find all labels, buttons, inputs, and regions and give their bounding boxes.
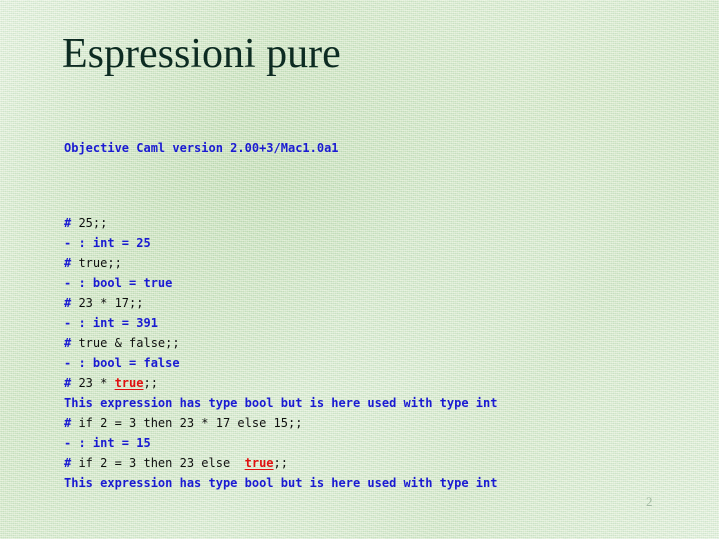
terminal-line-input: # if 2 = 3 then 23 * 17 else 15;; xyxy=(64,413,684,433)
terminal-prompt: # xyxy=(64,416,78,430)
terminal-line-input: # true;; xyxy=(64,253,684,273)
terminal-line-response: - : int = 391 xyxy=(64,313,684,333)
terminal-user-input: true & false;; xyxy=(78,336,179,350)
terminal-user-input: 23 * xyxy=(78,376,114,390)
terminal-line-response: - : int = 15 xyxy=(64,433,684,453)
terminal-error-message: This expression has type bool but is her… xyxy=(64,396,497,410)
ocaml-version-banner: Objective Caml version 2.00+3/Mac1.0a1 xyxy=(64,138,684,158)
terminal-prompt: # xyxy=(64,336,78,350)
terminal-user-input: true;; xyxy=(78,256,121,270)
terminal-line-input: # 25;; xyxy=(64,213,684,233)
terminal-error-highlight: true xyxy=(115,376,144,390)
terminal-response: - : int = 25 xyxy=(64,236,151,250)
terminal-error-highlight: true xyxy=(245,456,274,470)
presentation-slide: Espressioni pure Objective Caml version … xyxy=(0,0,719,539)
terminal-line-input: # 23 * true;; xyxy=(64,373,684,393)
slide-content: Espressioni pure Objective Caml version … xyxy=(0,0,719,539)
terminal-user-input: 25;; xyxy=(78,216,107,230)
terminal-line-response: - : bool = true xyxy=(64,273,684,293)
terminal-line-list: # 25;;- : int = 25# true;;- : bool = tru… xyxy=(64,213,684,493)
page-title: Espressioni pure xyxy=(62,29,341,79)
terminal-response: - : bool = true xyxy=(64,276,172,290)
terminal-prompt: # xyxy=(64,216,78,230)
terminal-line-input: # true & false;; xyxy=(64,333,684,353)
terminal-user-input: if 2 = 3 then 23 else xyxy=(78,456,244,470)
terminal-line-error: This expression has type bool but is her… xyxy=(64,393,684,413)
terminal-line-input: # if 2 = 3 then 23 else true;; xyxy=(64,453,684,473)
terminal-line-input: # 23 * 17;; xyxy=(64,293,684,313)
terminal-prompt: # xyxy=(64,256,78,270)
terminal-user-input: 23 * 17;; xyxy=(78,296,143,310)
terminal-prompt: # xyxy=(64,456,78,470)
ocaml-terminal-transcript: Objective Caml version 2.00+3/Mac1.0a1 #… xyxy=(64,98,684,533)
terminal-line-error: This expression has type bool but is her… xyxy=(64,473,684,493)
terminal-prompt: # xyxy=(64,376,78,390)
terminal-user-input: if 2 = 3 then 23 * 17 else 15;; xyxy=(78,416,302,430)
terminal-line-response: - : bool = false xyxy=(64,353,684,373)
page-number: 2 xyxy=(646,494,653,510)
terminal-response: - : bool = false xyxy=(64,356,180,370)
terminal-user-input: ;; xyxy=(274,456,288,470)
terminal-response: - : int = 391 xyxy=(64,316,158,330)
terminal-line-response: - : int = 25 xyxy=(64,233,684,253)
terminal-user-input: ;; xyxy=(143,376,157,390)
terminal-prompt: # xyxy=(64,296,78,310)
terminal-error-message: This expression has type bool but is her… xyxy=(64,476,497,490)
terminal-response: - : int = 15 xyxy=(64,436,151,450)
